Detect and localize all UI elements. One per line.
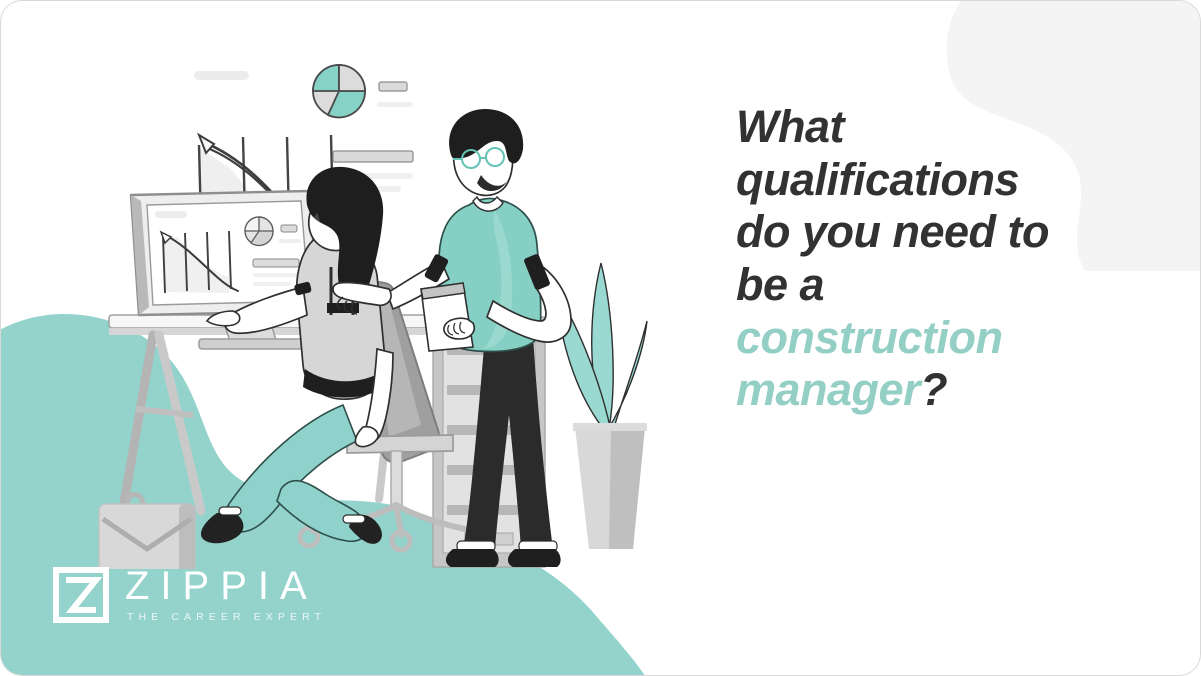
headline-line-2: qualifications xyxy=(736,154,1136,207)
headline-line-5-accent: construction xyxy=(736,312,1136,365)
logo-tagline: THE CAREER EXPERT xyxy=(127,611,326,623)
headline-line-1: What xyxy=(736,101,1136,154)
zippia-z-mark-icon xyxy=(53,567,109,623)
logo-wordmark: ZIPPIA THE CAREER EXPERT xyxy=(125,566,326,623)
logo-name: ZIPPIA xyxy=(125,566,326,606)
briefcase-group xyxy=(99,495,195,570)
zippia-logo[interactable]: ZIPPIA THE CAREER EXPERT xyxy=(53,566,326,623)
promo-card: What qualifications do you need to be a … xyxy=(0,0,1201,676)
potted-plant-group xyxy=(557,263,647,549)
headline-line-4: be a xyxy=(736,259,1136,312)
headline-line-3: do you need to xyxy=(736,206,1136,259)
headline-question-mark: ? xyxy=(920,364,947,415)
illustration-two-coworkers-charts xyxy=(81,49,701,569)
headline-line-6-accent: manager xyxy=(736,364,920,415)
floating-pie-chart xyxy=(313,65,365,117)
page-title: What qualifications do you need to be a … xyxy=(736,101,1136,417)
